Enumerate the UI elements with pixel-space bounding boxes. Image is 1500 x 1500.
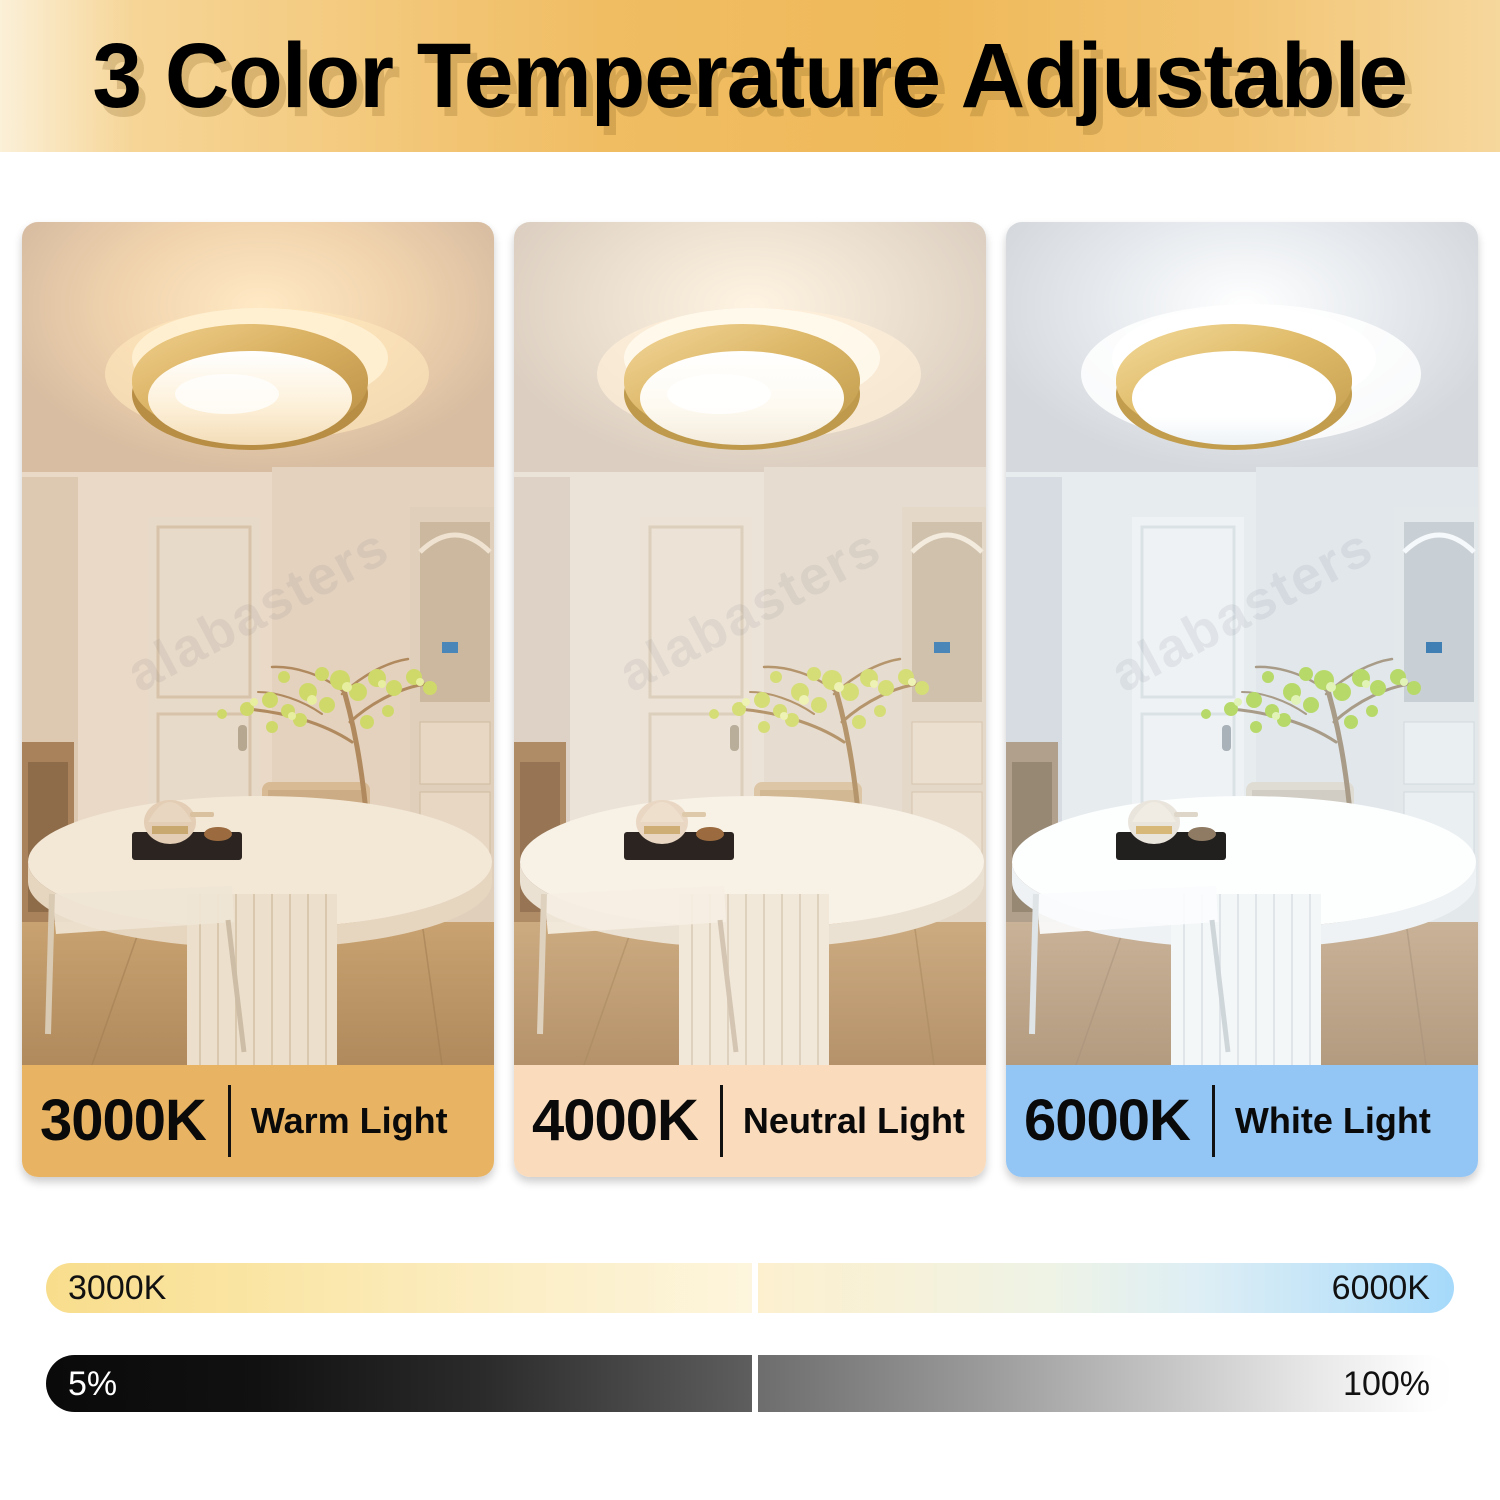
label-bar-6000k: 6000K White Light bbox=[1006, 1065, 1478, 1177]
panel-6000k[interactable]: alabasters 6000K White Light bbox=[1006, 222, 1478, 1177]
panel-4000k[interactable]: alabasters 4000K Neutral Light bbox=[514, 222, 986, 1177]
room-scene-3000k: alabasters bbox=[22, 222, 494, 1065]
cct-slider-left-segment[interactable]: 3000K bbox=[46, 1263, 752, 1313]
header-banner: 3 Color Temperature Adjustable bbox=[0, 0, 1500, 152]
light-name: White Light bbox=[1235, 1103, 1431, 1139]
cct-min-label: 3000K bbox=[68, 1271, 166, 1305]
light-name: Neutral Light bbox=[743, 1103, 965, 1139]
page-title: 3 Color Temperature Adjustable bbox=[93, 30, 1408, 122]
color-temperature-slider[interactable]: 3000K 6000K bbox=[46, 1263, 1454, 1313]
label-divider bbox=[720, 1085, 723, 1157]
cct-max-label: 6000K bbox=[1332, 1271, 1430, 1305]
room-scene-6000k: alabasters bbox=[1006, 222, 1478, 1065]
cct-slider-right-segment[interactable]: 6000K bbox=[758, 1263, 1454, 1313]
dimming-min-label: 5% bbox=[68, 1367, 117, 1401]
label-bar-4000k: 4000K Neutral Light bbox=[514, 1065, 986, 1177]
light-name: Warm Light bbox=[251, 1103, 448, 1139]
label-divider bbox=[228, 1085, 231, 1157]
dimming-slider-right-segment[interactable]: 100% bbox=[758, 1355, 1454, 1412]
label-divider bbox=[1212, 1085, 1215, 1157]
dimming-slider[interactable]: 5% 100% bbox=[46, 1355, 1454, 1412]
kelvin-value: 6000K bbox=[1024, 1092, 1190, 1150]
dimming-slider-left-segment[interactable]: 5% bbox=[46, 1355, 752, 1412]
kelvin-value: 3000K bbox=[40, 1092, 206, 1150]
color-temperature-panels: alabasters 3000K Warm Light bbox=[22, 222, 1478, 1177]
kelvin-value: 4000K bbox=[532, 1092, 698, 1150]
room-scene-4000k: alabasters bbox=[514, 222, 986, 1065]
dimming-max-label: 100% bbox=[1343, 1367, 1430, 1401]
label-bar-3000k: 3000K Warm Light bbox=[22, 1065, 494, 1177]
panel-3000k[interactable]: alabasters 3000K Warm Light bbox=[22, 222, 494, 1177]
